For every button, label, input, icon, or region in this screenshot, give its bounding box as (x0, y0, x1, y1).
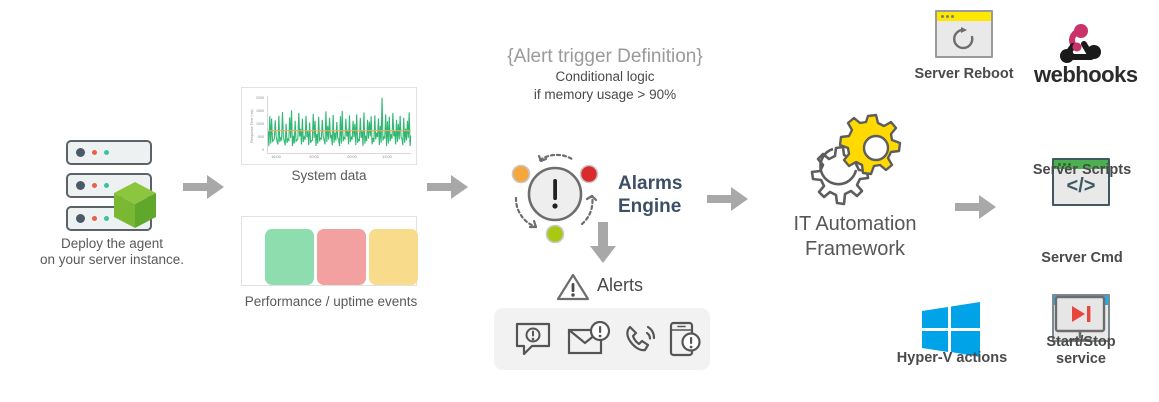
definition-line-1: Conditional logic (470, 68, 740, 86)
chart-y-tick: 0 (250, 148, 264, 152)
it-automation-label-line2: Framework (762, 237, 948, 262)
alerts-label: Alerts (597, 275, 643, 296)
window-dot (946, 15, 949, 18)
system-data-chart: Response Time (ms) 2000 1500 1000 500 0 … (242, 88, 416, 164)
definition-title: {Alert trigger Definition} (470, 45, 740, 68)
alarms-engine-label: Alarms Engine (618, 172, 682, 218)
chart-y-tick: 2000 (250, 96, 264, 100)
chart-x-tick: 20:00 (303, 155, 325, 159)
performance-events-card (241, 216, 417, 286)
it-automation-label: IT Automation Framework (762, 212, 948, 262)
event-bar-yellow (369, 229, 418, 285)
server-status-dot-red (92, 183, 97, 188)
server-stack-icon (66, 140, 158, 232)
mobile-alert-icon[interactable] (667, 320, 703, 358)
chart-x-tick: 13:00 (376, 155, 398, 159)
system-data-caption: System data (241, 168, 417, 184)
it-automation-label-line1: IT Automation (762, 212, 948, 237)
server-reboot-icon[interactable] (935, 10, 993, 58)
definition-line-2: if memory usage > 90% (470, 86, 740, 104)
chart-x-tick: 00:00 (341, 155, 363, 159)
server-status-dot-primary (76, 214, 85, 223)
server-status-dot-teal (104, 150, 109, 155)
chart-x-tick: 16:00 (265, 155, 287, 159)
it-automation-gears-icon (800, 108, 910, 213)
alerts-down-arrow (588, 222, 618, 264)
start-stop-service-label-line1: Start/Stop (1016, 334, 1146, 351)
reboot-refresh-icon (951, 26, 977, 52)
chart-y-tick: 1500 (250, 109, 264, 113)
chart-plot (268, 96, 411, 153)
window-dot (941, 15, 944, 18)
chart-y-tick: 500 (250, 135, 264, 139)
flow-arrow-4 (955, 192, 997, 222)
chart-y-axis-label: Response Time (ms) (250, 100, 254, 152)
flow-arrow-3 (707, 184, 749, 214)
system-data-chart-card: Response Time (ms) 2000 1500 1000 500 0 … (241, 87, 417, 165)
server-reboot-label: Server Reboot (892, 66, 1036, 83)
chat-alert-icon[interactable] (514, 321, 552, 357)
deploy-caption-line2: on your server instance. (32, 252, 192, 268)
phone-call-alert-icon[interactable] (621, 321, 661, 357)
alarms-engine-label-line2: Engine (618, 195, 682, 218)
email-alert-icon[interactable] (567, 321, 611, 357)
flow-arrow-1 (183, 172, 225, 202)
warning-triangle-icon (556, 272, 590, 302)
event-bar-green (265, 229, 314, 285)
server-status-dot-teal (104, 216, 109, 221)
chart-y-tick: 1000 (250, 122, 264, 126)
alarms-engine-label-line1: Alarms (618, 172, 682, 195)
webhooks-label: webhooks (1034, 62, 1134, 88)
server-status-dot-red (92, 150, 97, 155)
performance-events-caption: Performance / uptime events (231, 294, 431, 310)
alert-trigger-definition: {Alert trigger Definition} Conditional l… (470, 45, 740, 104)
server-scripts-label: Server Scripts (1009, 162, 1155, 179)
server-status-dot-teal (104, 183, 109, 188)
deploy-caption: Deploy the agent on your server instance… (32, 236, 192, 268)
agent-cube-icon (112, 180, 158, 230)
diagram-canvas: Deploy the agent on your server instance… (0, 0, 1159, 402)
deploy-caption-line1: Deploy the agent (32, 236, 192, 252)
alert-channels-panel (494, 308, 710, 370)
start-stop-service-label-line2: service (1016, 351, 1146, 368)
start-stop-service-label: Start/Stop service (1016, 334, 1146, 368)
server-slab (66, 140, 152, 165)
server-status-dot-red (92, 216, 97, 221)
server-cmd-label: Server Cmd (1012, 250, 1152, 267)
flow-arrow-2 (427, 172, 469, 202)
hyper-v-actions-label: Hyper-V actions (882, 350, 1022, 367)
event-bar-red (317, 229, 366, 285)
window-body (937, 21, 991, 56)
server-status-dot-primary (76, 148, 85, 157)
window-dot (951, 15, 954, 18)
server-status-dot-primary (76, 181, 85, 190)
chart-x-axis (267, 153, 411, 154)
